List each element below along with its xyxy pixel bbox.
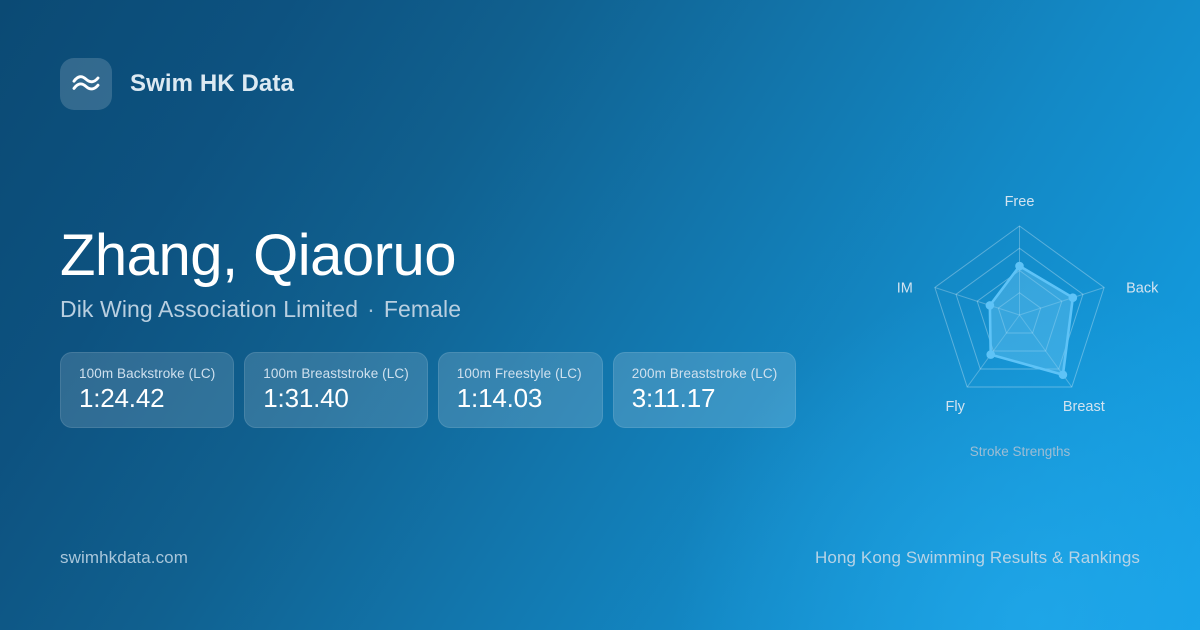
radar-data-point [986,350,995,359]
brand[interactable]: Swim HK Data [60,58,294,110]
footer-site-url[interactable]: swimhkdata.com [60,548,188,568]
stat-event-label: 100m Breaststroke (LC) [263,366,409,381]
stat-event-label: 100m Backstroke (LC) [79,366,215,381]
radar-axis-label: Fly [946,399,966,415]
stat-time-value: 1:31.40 [263,384,409,413]
stat-event-label: 100m Freestyle (LC) [457,366,584,381]
radar-axis-label: IM [897,281,913,297]
stat-card[interactable]: 100m Backstroke (LC) 1:24.42 [60,352,234,428]
stat-time-value: 1:24.42 [79,384,215,413]
radar-axis-label: Free [1005,194,1035,210]
stat-time-value: 3:11.17 [632,384,778,413]
radar-data-point [986,301,995,310]
athlete-meta: Dik Wing Association Limited·Female [60,296,461,323]
wave-icon [60,58,112,110]
stat-card[interactable]: 100m Freestyle (LC) 1:14.03 [438,352,603,428]
stat-card[interactable]: 100m Breaststroke (LC) 1:31.40 [244,352,428,428]
stat-event-label: 200m Breaststroke (LC) [632,366,778,381]
stat-time-value: 1:14.03 [457,384,584,413]
radar-data-point [1069,293,1078,302]
stat-card[interactable]: 200m Breaststroke (LC) 3:11.17 [613,352,797,428]
radar-axis-label: Breast [1063,399,1105,415]
og-card: Swim HK Data Zhang, Qiaoruo Dik Wing Ass… [0,0,1200,630]
page-title: Zhang, Qiaoruo [60,225,456,288]
radar-area-polygon [990,266,1073,375]
stroke-strengths-radar-chart: FreeBackBreastFlyIM Stroke Strengths [879,175,1161,467]
meta-separator: · [367,296,375,323]
radar-caption: Stroke Strengths [970,444,1071,459]
radar-axis-label: Back [1126,281,1159,297]
radar-data-point [1059,370,1068,379]
brand-name: Swim HK Data [130,70,294,98]
athlete-club: Dik Wing Association Limited [60,296,358,322]
stat-card-list: 100m Backstroke (LC) 1:24.42 100m Breast… [60,352,796,428]
athlete-gender: Female [384,296,461,322]
radar-data-point [1015,262,1024,271]
footer-tagline: Hong Kong Swimming Results & Rankings [815,548,1140,568]
